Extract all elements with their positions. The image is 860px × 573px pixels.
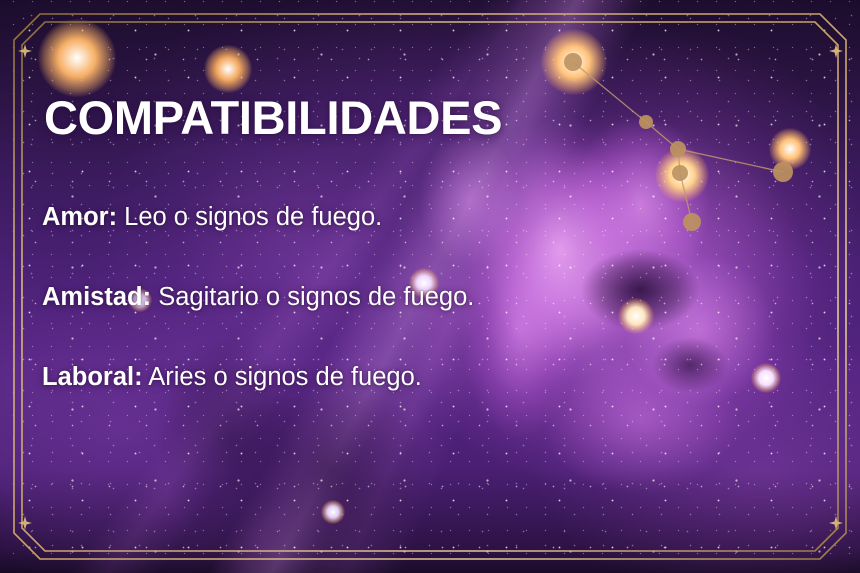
line-label-work: Laboral: [42, 363, 143, 391]
line-label-friendship: Amistad: [42, 283, 151, 311]
compatibility-line-friendship: Amistad: Sagitario o signos de fuego. [42, 283, 474, 312]
text-content: COMPATIBILIDADES Amor: Leo o signos de f… [42, 0, 802, 573]
corner-sparkle-icon [18, 516, 32, 530]
page-title: COMPATIBILIDADES [44, 90, 502, 145]
astrology-compatibility-poster: COMPATIBILIDADES Amor: Leo o signos de f… [0, 0, 860, 573]
corner-sparkle-icon [829, 44, 843, 58]
corner-sparkle-icon [829, 516, 843, 530]
compatibility-line-love: Amor: Leo o signos de fuego. [42, 203, 382, 232]
line-value-friendship: Sagitario o signos de fuego. [151, 283, 474, 311]
compatibility-line-work: Laboral: Aries o signos de fuego. [42, 363, 422, 392]
line-label-love: Amor: [42, 203, 117, 231]
line-value-love: Leo o signos de fuego. [117, 203, 382, 231]
corner-sparkle-icon [18, 44, 32, 58]
line-value-work: Aries o signos de fuego. [143, 363, 422, 391]
